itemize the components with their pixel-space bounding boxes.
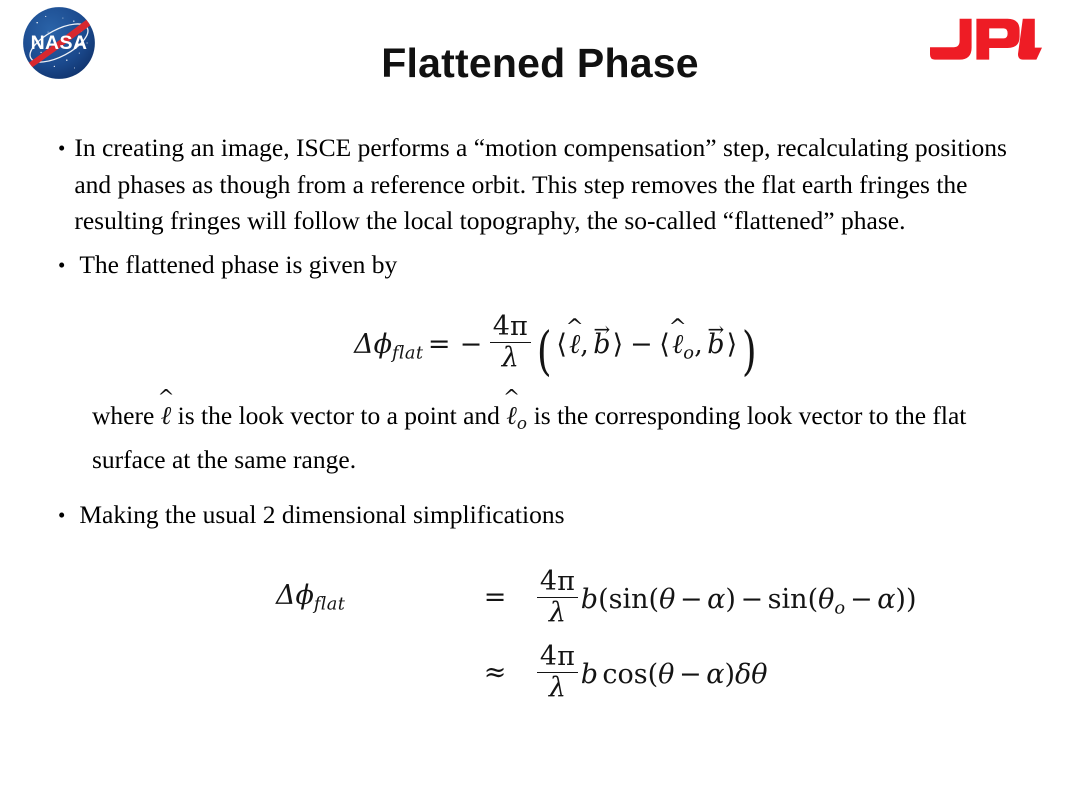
eq2-fn-sin-2: sin bbox=[768, 584, 808, 615]
eq2-relation-2: ≈ bbox=[466, 657, 524, 688]
eq2-minus-2: − bbox=[845, 584, 877, 615]
eq2-paren-close-outer: ) bbox=[906, 584, 917, 615]
eq2-minus-3: − bbox=[674, 659, 706, 690]
eq1-relation: = bbox=[423, 329, 455, 360]
eq1-comma-2: , bbox=[694, 329, 703, 360]
eq2-lhs: Δϕflat bbox=[276, 580, 466, 614]
eq2-theta-2: θ bbox=[818, 584, 834, 615]
eq1-inner1-right: →b bbox=[593, 329, 610, 360]
eq2-alpha-2: α bbox=[877, 584, 895, 615]
bullet-text-1: In creating an image, ISCE performs a “m… bbox=[74, 130, 1014, 240]
eq1-fraction: 4πλ bbox=[490, 313, 531, 372]
eq2-paren-close-3: ) bbox=[724, 659, 735, 690]
eq2-fraction-2: 4πλ bbox=[537, 643, 578, 702]
eq2-paren-open-outer: ( bbox=[598, 584, 609, 615]
eq2-paren-open-1: ( bbox=[649, 584, 660, 615]
slide-body: • In creating an image, ISCE performs a … bbox=[58, 130, 1038, 702]
eq2-paren-close-2: ) bbox=[895, 584, 906, 615]
eq1-inner1-left: ^ℓ bbox=[569, 329, 580, 360]
where-symbol-ell-hat-o: ^ℓ bbox=[506, 398, 517, 435]
eq2-theta-3: θ bbox=[658, 659, 674, 690]
eq1-inner2-right: →b bbox=[707, 329, 724, 360]
where-symbol-ell-hat: ^ℓ bbox=[161, 398, 172, 435]
eq2-alpha-3: α bbox=[706, 659, 724, 690]
where-description: where ^ℓ is the look vector to a point a… bbox=[92, 398, 1038, 478]
eq1-lhs-subscript: flat bbox=[392, 342, 423, 363]
eq2-lhs-symbol: Δϕ bbox=[276, 580, 314, 611]
eq2-paren-close-1: ) bbox=[725, 584, 736, 615]
eq1-inner2-left: ^ℓ bbox=[672, 329, 683, 360]
bullet-marker-icon: • bbox=[58, 497, 79, 534]
bullet-marker-icon: • bbox=[58, 247, 79, 284]
eq2-fraction-denominator: λ bbox=[537, 672, 578, 702]
eq2-fraction-numerator: 4π bbox=[537, 643, 578, 672]
eq2-fn-cos: cos bbox=[602, 659, 647, 690]
eq1-bracket-open-1: ⟨ bbox=[554, 329, 569, 360]
eq2-fraction-1: 4πλ bbox=[537, 568, 578, 627]
where-part-1: where bbox=[92, 401, 161, 430]
bullet-item-3: • Making the usual 2 dimensional simplif… bbox=[58, 497, 1038, 534]
where-symbol-subscript: o bbox=[517, 413, 527, 433]
where-part-2: is the look vector to a point and bbox=[171, 401, 506, 430]
eq1-bracket-close-1: ⟩ bbox=[611, 329, 626, 360]
eq1-inner-operator: − bbox=[625, 329, 657, 360]
eq1-fraction-numerator: 4π bbox=[490, 313, 531, 342]
eq2-alpha-1: α bbox=[707, 584, 725, 615]
eq1-comma-1: , bbox=[580, 329, 589, 360]
equation-flattened-phase: Δϕflat=−4πλ(⟨^ℓ,→b⟩−⟨^ℓo,→b⟩) bbox=[58, 313, 1038, 372]
page-title: Flattened Phase bbox=[0, 40, 1080, 87]
eq1-bracket-close-2: ⟩ bbox=[724, 329, 739, 360]
eq1-fraction-denominator: λ bbox=[490, 342, 531, 372]
equation-1-math: Δϕflat=−4πλ(⟨^ℓ,→b⟩−⟨^ℓo,→b⟩) bbox=[336, 313, 760, 372]
eq2-coefficient-2: b bbox=[581, 659, 598, 690]
bullet-item-1: • In creating an image, ISCE performs a … bbox=[58, 130, 1038, 240]
eq2-rhs-line-1: 4πλb(sin(θ−α)−sin(θo−α)) bbox=[524, 568, 917, 627]
equation-2-grid: Δϕflat = 4πλb(sin(θ−α)−sin(θo−α)) ≈ 4πλb… bbox=[276, 568, 1038, 702]
eq2-minus-1: − bbox=[675, 584, 707, 615]
eq2-paren-open-2: ( bbox=[808, 584, 819, 615]
eq2-coefficient-1: b bbox=[581, 584, 598, 615]
eq1-bracket-open-2: ⟨ bbox=[657, 329, 672, 360]
eq2-paren-open-3: ( bbox=[648, 659, 659, 690]
eq2-relation-1: = bbox=[466, 582, 524, 613]
bullet-item-2: • The flattened phase is given by bbox=[58, 247, 1038, 284]
eq1-inner2-left-subscript: o bbox=[683, 342, 694, 363]
eq2-theta-1: θ bbox=[659, 584, 675, 615]
eq2-theta-2-subscript: o bbox=[834, 597, 845, 618]
eq2-delta-theta: δθ bbox=[735, 659, 768, 690]
bullet-marker-icon: • bbox=[58, 130, 74, 167]
eq2-middle-operator: − bbox=[736, 584, 768, 615]
eq2-fraction-numerator: 4π bbox=[537, 568, 578, 597]
eq1-lhs-symbol: Δϕ bbox=[354, 329, 392, 360]
eq2-lhs-subscript: flat bbox=[314, 593, 345, 614]
eq2-rhs-line-2: 4πλbcos(θ−α)δθ bbox=[524, 643, 917, 702]
eq2-fraction-denominator: λ bbox=[537, 597, 578, 627]
bullet-text-2: The flattened phase is given by bbox=[79, 247, 1038, 284]
eq1-sign: − bbox=[455, 329, 487, 360]
bullet-text-3: Making the usual 2 dimensional simplific… bbox=[79, 497, 1038, 534]
eq2-fn-sin-1: sin bbox=[609, 584, 649, 615]
equation-2d-simplification: Δϕflat = 4πλb(sin(θ−α)−sin(θo−α)) ≈ 4πλb… bbox=[58, 568, 1038, 702]
